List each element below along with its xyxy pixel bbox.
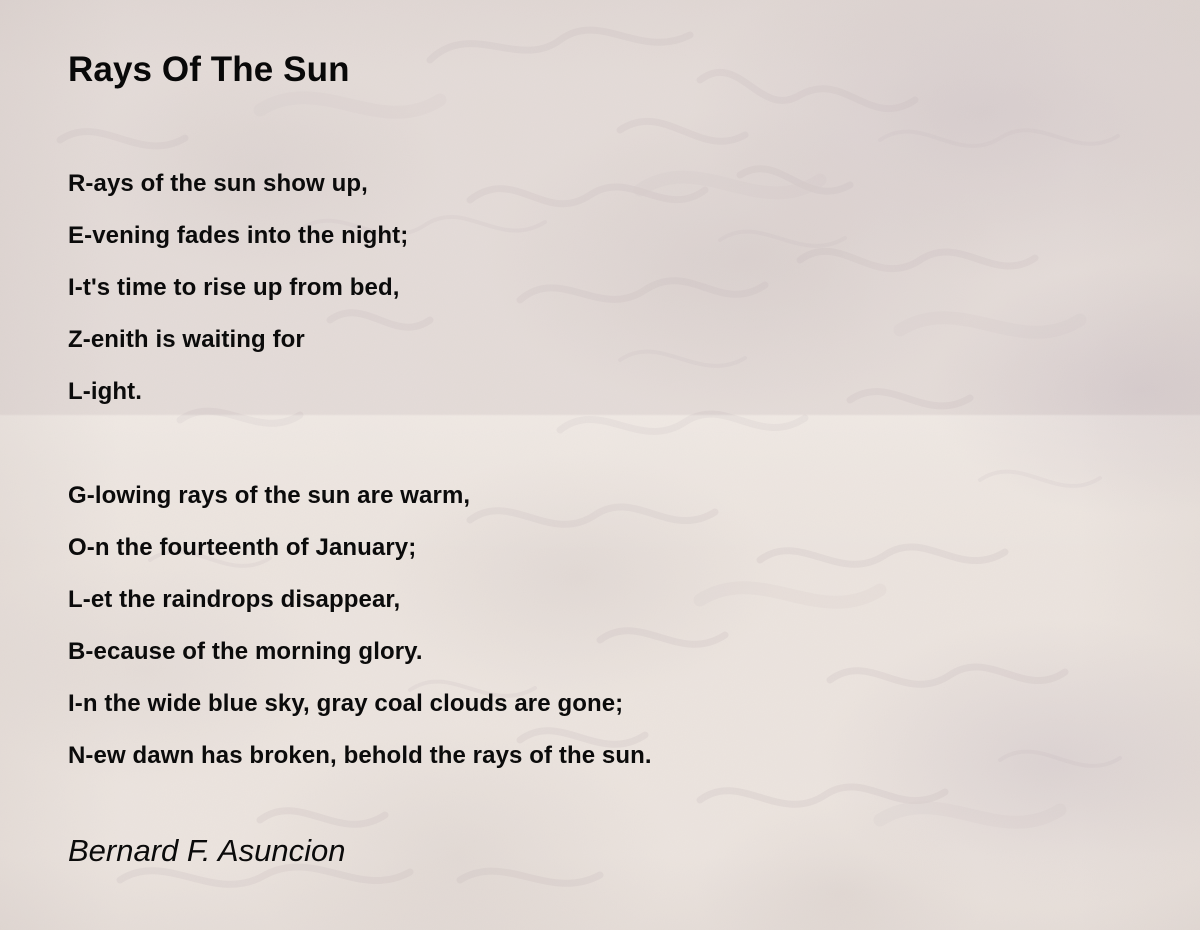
poem-title: Rays Of The Sun [68, 48, 350, 92]
poem-line: L-ight. [68, 366, 408, 418]
poem-line: N-ew dawn has broken, behold the rays of… [68, 730, 652, 782]
poem-line: I-t's time to rise up from bed, [68, 262, 408, 314]
poem-line: E-vening fades into the night; [68, 210, 408, 262]
poem-stanza: R-ays of the sun show up, E-vening fades… [68, 158, 408, 418]
poem-stanza: G-lowing rays of the sun are warm, O-n t… [68, 470, 652, 782]
poem-line: B-ecause of the morning glory. [68, 626, 652, 678]
poem-author: Bernard F. Asuncion [68, 831, 345, 871]
poem-line: I-n the wide blue sky, gray coal clouds … [68, 678, 652, 730]
poem-line: O-n the fourteenth of January; [68, 522, 652, 574]
poem-page: Rays Of The Sun R-ays of the sun show up… [0, 0, 1200, 930]
poem-content: Rays Of The Sun R-ays of the sun show up… [68, 0, 1158, 930]
poem-line: Z-enith is waiting for [68, 314, 408, 366]
poem-line: G-lowing rays of the sun are warm, [68, 470, 652, 522]
poem-line: R-ays of the sun show up, [68, 158, 408, 210]
poem-line: L-et the raindrops disappear, [68, 574, 652, 626]
